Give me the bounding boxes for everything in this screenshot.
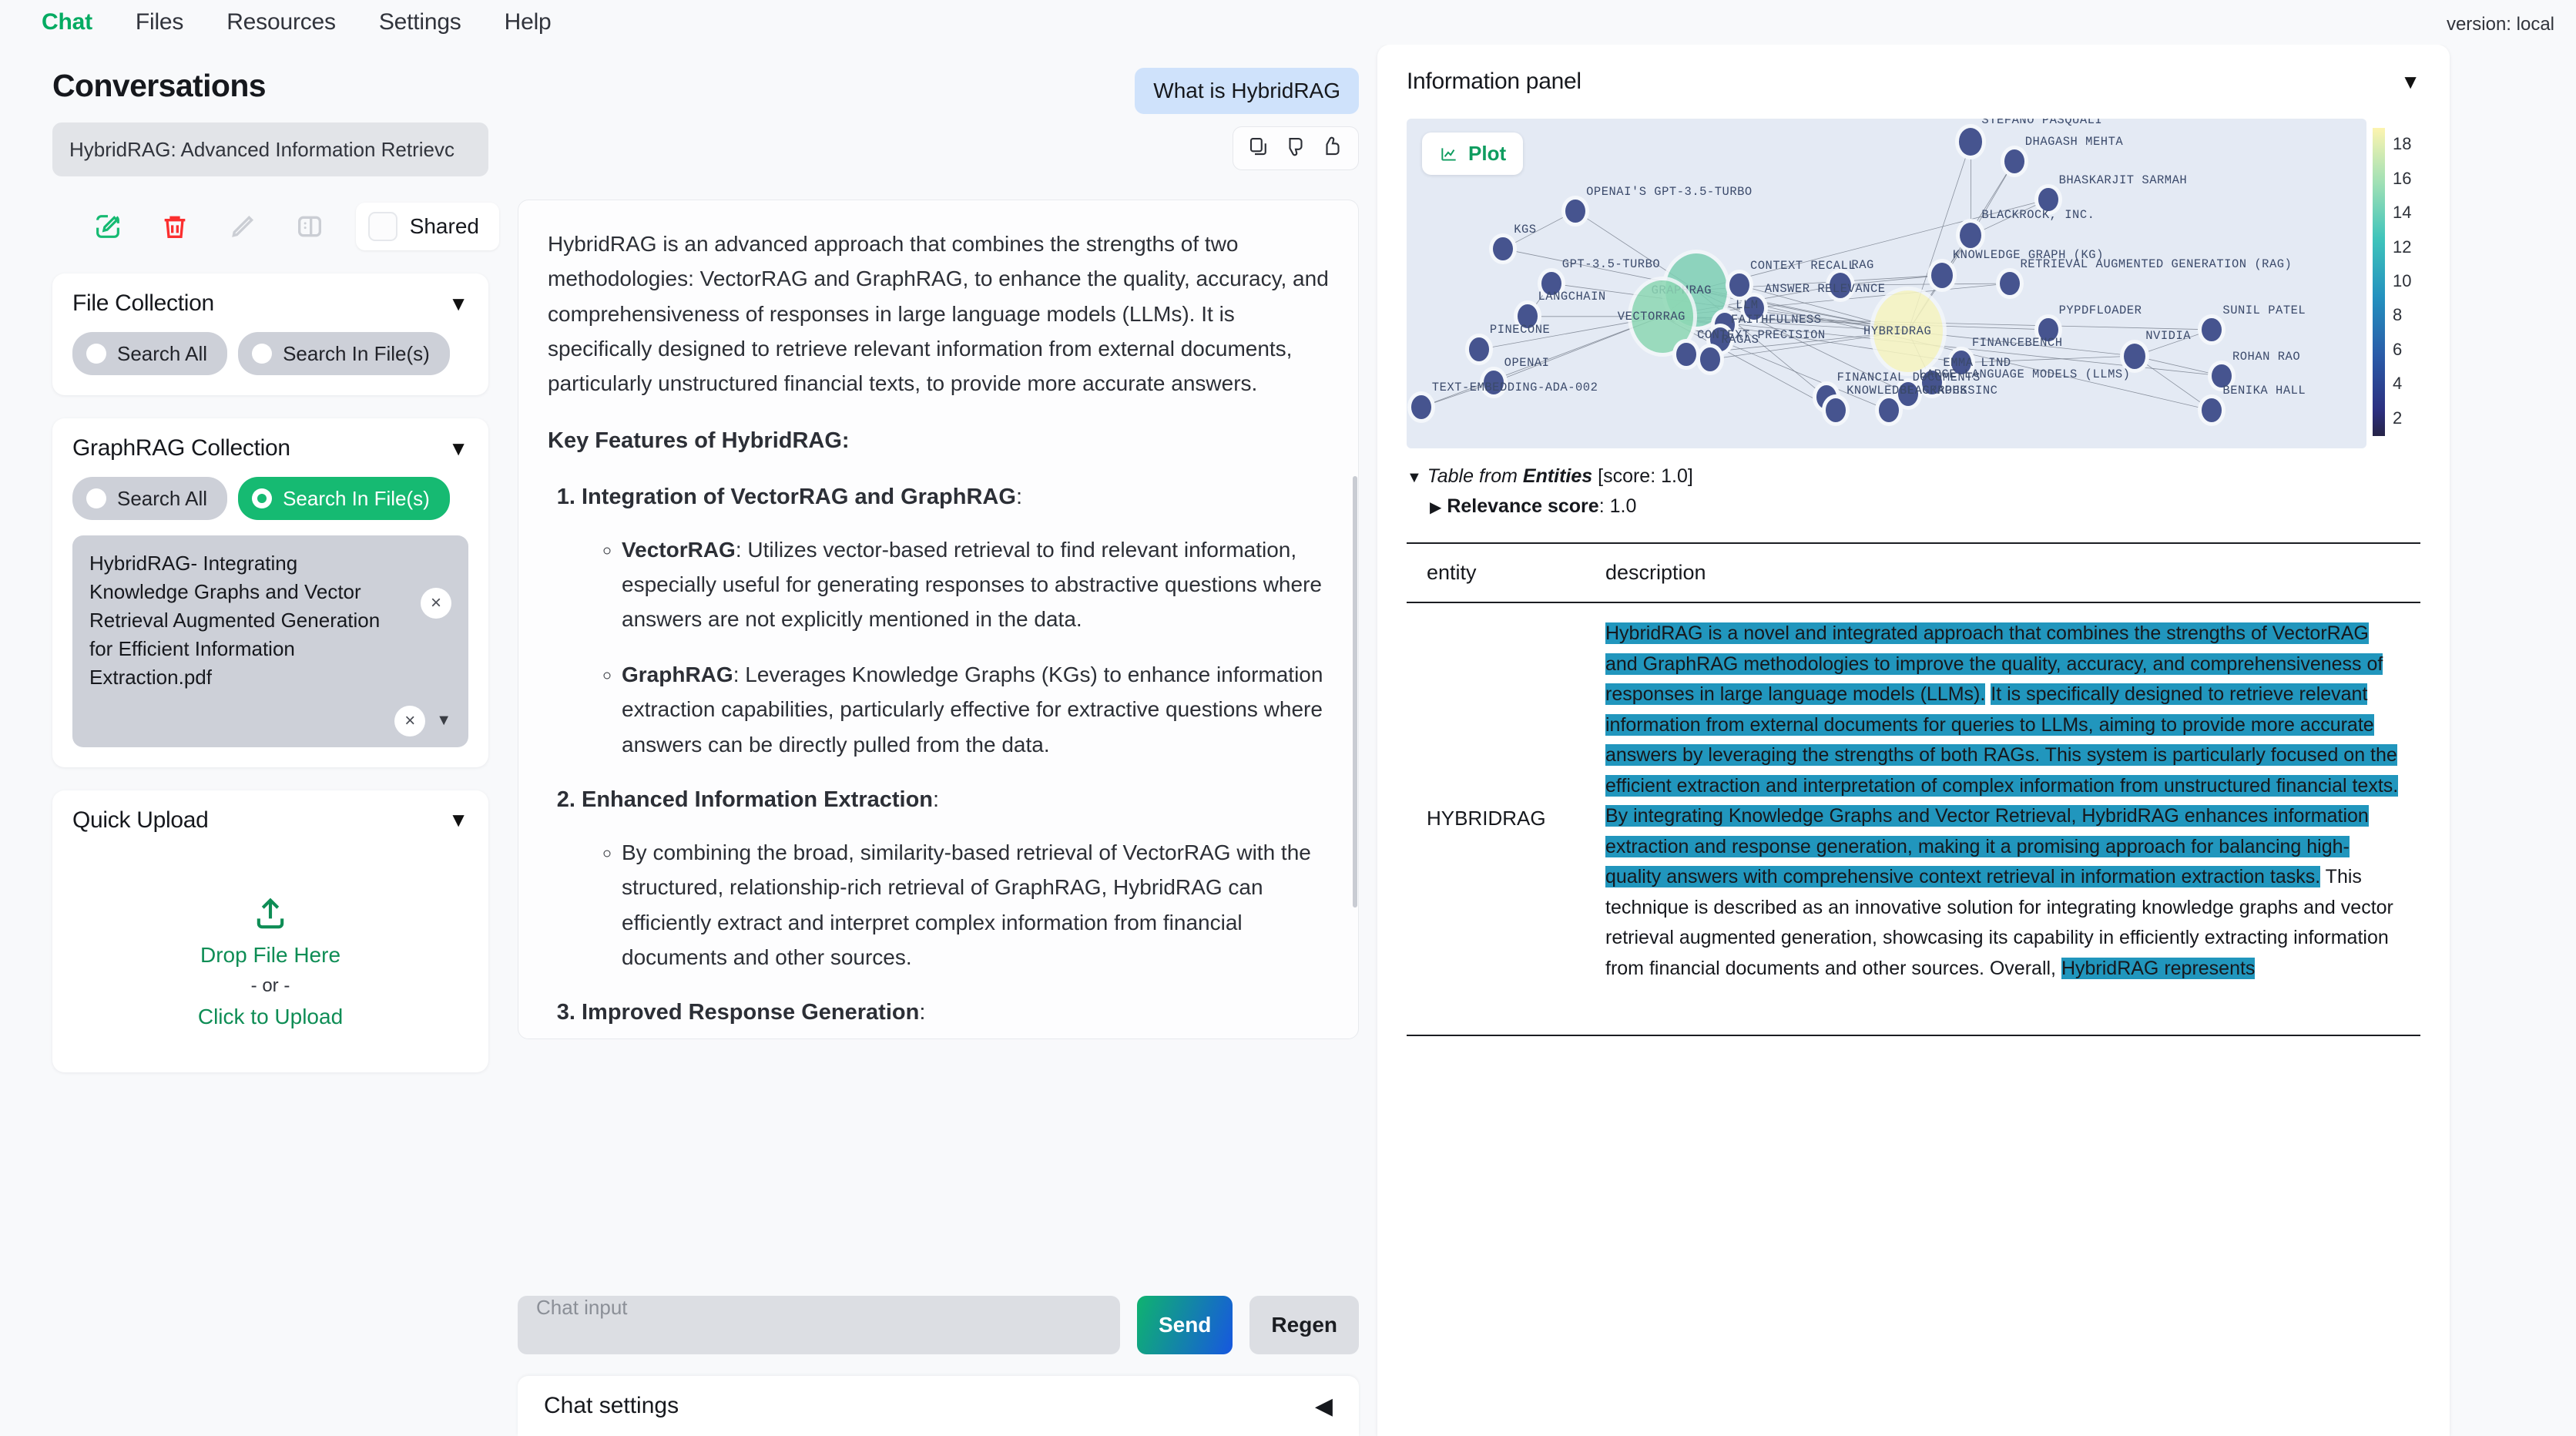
graph-node-label: BLACKROCK, INC. (1981, 208, 2095, 222)
selected-files-box: HybridRAG- Integrating Knowledge Graphs … (72, 535, 468, 747)
tab-help[interactable]: Help (483, 0, 573, 45)
list-item: Improved Response Generation: (582, 995, 1329, 1031)
feature-title: Integration of VectorRAG and GraphRAG (582, 485, 1016, 509)
tab-settings[interactable]: Settings (357, 0, 483, 45)
graph-node-label: OPENAI'S GPT-3.5-TURBO (1586, 185, 1753, 199)
entities-prefix: Table from (1427, 465, 1523, 487)
chevron-down-icon[interactable]: ▼ (448, 437, 468, 461)
or-label: - or - (251, 975, 290, 997)
graph-node[interactable] (1411, 395, 1431, 419)
chat-input[interactable] (518, 1296, 1120, 1354)
list-item: By combining the broad, similarity-based… (622, 835, 1329, 975)
graphrag-collection-card: GraphRAG Collection ▼ Search All Search … (52, 418, 488, 767)
graph-node[interactable] (1959, 128, 1982, 155)
graphrag-search-all[interactable]: Search All (72, 477, 227, 520)
graph-node-label: CONTEXT RECALL (1750, 259, 1856, 273)
graph-node-label: DHAGASH MEHTA (2025, 135, 2123, 149)
graph-node-label: RETRIEVAL AUGMENTED GENERATION (RAG) (2021, 257, 2293, 271)
graph-node-label: VECTORRAG (1618, 310, 1685, 324)
sub-lead: VectorRAG (622, 538, 736, 562)
sub-text: By combining the broad, similarity-based… (622, 840, 1311, 969)
shared-label: Shared (410, 214, 479, 239)
graph-node-label: FINANCIAL DOCUMENTS (1837, 371, 1981, 384)
graph-node[interactable] (2124, 344, 2145, 369)
regen-button[interactable]: Regen (1249, 1296, 1359, 1354)
graph-plot-area: Plot STEFANO PASQUALIDHAGASH MEHTABHASKA… (1407, 119, 2420, 448)
rename-conversation-icon[interactable] (209, 211, 276, 242)
quick-upload-title: Quick Upload (72, 807, 209, 834)
file-collection-search-all[interactable]: Search All (72, 332, 227, 375)
chevron-left-icon[interactable]: ◀ (1315, 1393, 1333, 1420)
graph-node-label: LLM (1736, 298, 1758, 312)
colorbar-tick: 2 (2393, 408, 2402, 428)
plot-tab[interactable]: Plot (1422, 133, 1523, 175)
thumbs-up-icon[interactable] (1321, 135, 1344, 162)
chat-column: What is HybridRAG (499, 45, 1377, 1436)
information-panel-title: Information panel (1407, 69, 1581, 95)
colorbar: 18161412108642 (2366, 119, 2420, 448)
table-row: HYBRIDRAGHybridRAG is a novel and integr… (1407, 602, 2420, 1035)
quick-upload-card: Quick Upload ▼ Drop File Here - or - Cli… (52, 790, 488, 1072)
segment-label: Search All (117, 342, 207, 366)
assistant-intro: HybridRAG is an advanced approach that c… (548, 226, 1329, 401)
graph-node-label: LANGCHAIN (1538, 290, 1606, 304)
entities-table-header[interactable]: ▼ Table from Entities [score: 1.0] (1407, 465, 2420, 488)
file-collection-card: File Collection ▼ Search All Search In F… (52, 273, 488, 395)
graph-node-label: KGS (1514, 223, 1536, 237)
description-text: HybridRAG is a novel and integrated appr… (1605, 619, 2400, 1019)
cell-entity: HYBRIDRAG (1407, 602, 1585, 1035)
feature-title: Improved Response Generation (582, 1000, 919, 1025)
assistant-message: HybridRAG is an advanced approach that c… (518, 200, 1359, 1039)
thumbs-down-icon[interactable] (1284, 135, 1307, 162)
graph-node-label: BENIKA HALL (2222, 384, 2306, 398)
graph-node-label: OPENAI (1504, 356, 1550, 370)
version-label: version: local (2447, 14, 2554, 35)
relevance-score-label: Relevance score (1447, 495, 1598, 517)
graph-node[interactable] (1931, 263, 1953, 288)
chat-settings-panel[interactable]: Chat settings ◀ (518, 1376, 1359, 1436)
click-to-upload-link[interactable]: Click to Upload (198, 1005, 343, 1029)
graph-node[interactable] (1826, 398, 1846, 422)
upload-icon (250, 895, 290, 935)
graph-node-label: HYBRIDRAG (1863, 324, 1931, 338)
graph-node-label: FAITHFULNESS (1731, 313, 1822, 327)
colorbar-tick: 4 (2393, 374, 2402, 394)
graph-node[interactable] (1493, 237, 1513, 261)
new-chat-icon[interactable] (74, 211, 141, 242)
colorbar-tick: 12 (2393, 237, 2411, 257)
chevron-down-icon[interactable]: ▼ (2400, 70, 2420, 94)
chevron-down-icon[interactable]: ▼ (436, 712, 451, 730)
colorbar-tick: 16 (2393, 169, 2411, 189)
graph-node[interactable] (1879, 398, 1899, 422)
entities-bold: Entities (1523, 465, 1592, 487)
graph-node-label: CONTEXT PRECISION (1697, 328, 1826, 342)
graph-node-label: TEXT-EMBEDDING-ADA-002 (1432, 381, 1598, 394)
entities-suffix: [score: 1.0] (1592, 465, 1693, 487)
file-collection-search-in-files[interactable]: Search In File(s) (238, 332, 450, 375)
page-title: Conversations (52, 68, 499, 104)
copy-icon[interactable] (1247, 135, 1270, 162)
message-action-bar (1233, 126, 1359, 170)
entities-table: entity description HYBRIDRAGHybridRAG is… (1407, 542, 2420, 1036)
column-header-entity: entity (1407, 543, 1585, 602)
graph-node[interactable] (1960, 223, 1981, 248)
highlighted-text: By integrating Knowledge Graphs and Vect… (1605, 805, 2369, 887)
information-panel: Information panel ▼ Plot STEFANO PASQUAL… (1377, 45, 2450, 1436)
graph-node-label: BLACKROCKSINC (1900, 384, 1997, 398)
file-collection-title: File Collection (72, 290, 214, 317)
chat-composer: Send Regen (518, 1282, 1359, 1354)
chart-icon (1439, 144, 1459, 164)
conversation-select[interactable]: HybridRAG: Advanced Information Retrievc (52, 122, 488, 176)
file-dropzone[interactable]: Drop File Here - or - Click to Upload (72, 895, 468, 1052)
chat-scroll-area[interactable]: What is HybridRAG (518, 45, 1359, 1282)
send-button[interactable]: Send (1137, 1296, 1233, 1354)
plot-tab-label: Plot (1468, 142, 1506, 166)
colorbar-gradient (2373, 128, 2385, 436)
chevron-down-icon[interactable]: ▼ (448, 808, 468, 832)
radio-indicator (86, 488, 106, 508)
tab-resources[interactable]: Resources (205, 0, 357, 45)
radio-indicator (252, 488, 272, 508)
graph-node-label: NVIDIA (2145, 329, 2191, 343)
graph-node[interactable] (1565, 200, 1585, 223)
graph-node-label: PYPDFLOADER (2059, 304, 2142, 317)
colorbar-tick: 6 (2393, 340, 2402, 360)
graph-node[interactable] (1700, 347, 1720, 371)
graph-node-label: STEFANO PASQUALI (1981, 119, 2102, 127)
graph-node[interactable] (2004, 149, 2024, 173)
graph-node-label: FINANCEBENCH (1972, 336, 2063, 350)
list-item: GraphRAG: Leverages Knowledge Graphs (KG… (622, 657, 1329, 762)
clear-files-icon[interactable]: × (394, 706, 425, 736)
chat-scrollbar[interactable] (1353, 476, 1357, 908)
colorbar-tick: 14 (2393, 203, 2411, 223)
chat-settings-label: Chat settings (544, 1393, 679, 1419)
features-list: Integration of VectorRAG and GraphRAG: V… (582, 479, 1329, 1032)
cell-description: HybridRAG is a novel and integrated appr… (1585, 602, 2420, 1035)
chevron-down-icon[interactable]: ▼ (1407, 469, 1422, 486)
radio-indicator (252, 344, 272, 364)
segment-label: Search In File(s) (283, 342, 430, 366)
graph-node[interactable] (2202, 398, 2222, 422)
table-header-row: entity description (1407, 543, 2420, 602)
graph-node[interactable] (1676, 343, 1696, 367)
column-header-description: description (1585, 543, 2420, 602)
highlighted-text: HybridRAG represents (2061, 958, 2255, 979)
tab-files[interactable]: Files (114, 0, 205, 45)
conversation-select-value: HybridRAG: Advanced Information Retrievc (69, 138, 454, 162)
graph-node-label: PINECONE (1490, 323, 1550, 337)
remove-file-icon[interactable]: × (421, 588, 451, 619)
colorbar-tick: 10 (2393, 271, 2411, 291)
file-chip-label: HybridRAG- Integrating Knowledge Graphs … (89, 549, 397, 692)
shared-toggle[interactable]: Shared (356, 203, 499, 250)
graph-node-label: GPT-3.5-TURBO (1562, 257, 1660, 271)
sub-lead: GraphRAG (622, 663, 733, 686)
list-item: Enhanced Information Extraction: By comb… (582, 782, 1329, 975)
graph-nodes: STEFANO PASQUALIDHAGASH MEHTABHASKARJIT … (1407, 119, 2366, 448)
graph-node-label: ROHAN RAO (2232, 350, 2300, 364)
list-item: VectorRAG: Utilizes vector-based retriev… (622, 532, 1329, 637)
file-chip[interactable]: HybridRAG- Integrating Knowledge Graphs … (89, 549, 451, 692)
graph-node-label: ANSWER RELEVANCE (1765, 282, 1886, 296)
graph-node[interactable] (1469, 337, 1489, 361)
graph-node-label: BHASKARJIT SARMAH (2059, 173, 2188, 187)
graph-node[interactable] (2000, 272, 2020, 296)
delete-conversation-icon[interactable] (141, 211, 208, 242)
top-navigation-bar: Chat Files Resources Settings Help versi… (0, 0, 2576, 45)
chevron-right-icon[interactable]: ▶ (1430, 499, 1441, 516)
user-message-bubble: What is HybridRAG (1135, 68, 1359, 114)
relevance-score-row[interactable]: ▶ Relevance score: 1.0 (1407, 495, 2420, 518)
chevron-down-icon[interactable]: ▼ (448, 292, 468, 316)
graph-node[interactable] (1729, 273, 1749, 297)
knowledge-graph[interactable]: Plot STEFANO PASQUALIDHAGASH MEHTABHASKA… (1407, 119, 2366, 448)
radio-indicator (86, 344, 106, 364)
toggle-panel-icon[interactable] (276, 211, 343, 242)
colorbar-tick: 18 (2393, 134, 2411, 154)
colorbar-tick: 8 (2393, 305, 2402, 325)
segment-label: Search In File(s) (283, 487, 430, 511)
conversation-actions: Shared (74, 203, 499, 250)
relevance-score-value: 1.0 (1610, 495, 1637, 517)
drop-file-label: Drop File Here (200, 943, 340, 968)
tab-chat[interactable]: Chat (20, 0, 114, 45)
features-heading: Key Features of HybridRAG: (548, 423, 1329, 459)
graph-node-label: RAGAS (1721, 333, 1759, 347)
graph-node[interactable] (2202, 318, 2222, 342)
feature-title: Enhanced Information Extraction (582, 787, 933, 812)
shared-checkbox[interactable] (368, 212, 397, 241)
segment-label: Search All (117, 487, 207, 511)
list-item: Integration of VectorRAG and GraphRAG: V… (582, 479, 1329, 762)
graph-node-label: SUNIL PATEL (2222, 304, 2306, 317)
graphrag-search-in-files[interactable]: Search In File(s) (238, 477, 450, 520)
sidebar: Conversations HybridRAG: Advanced Inform… (0, 45, 499, 1436)
graphrag-collection-title: GraphRAG Collection (72, 435, 290, 461)
